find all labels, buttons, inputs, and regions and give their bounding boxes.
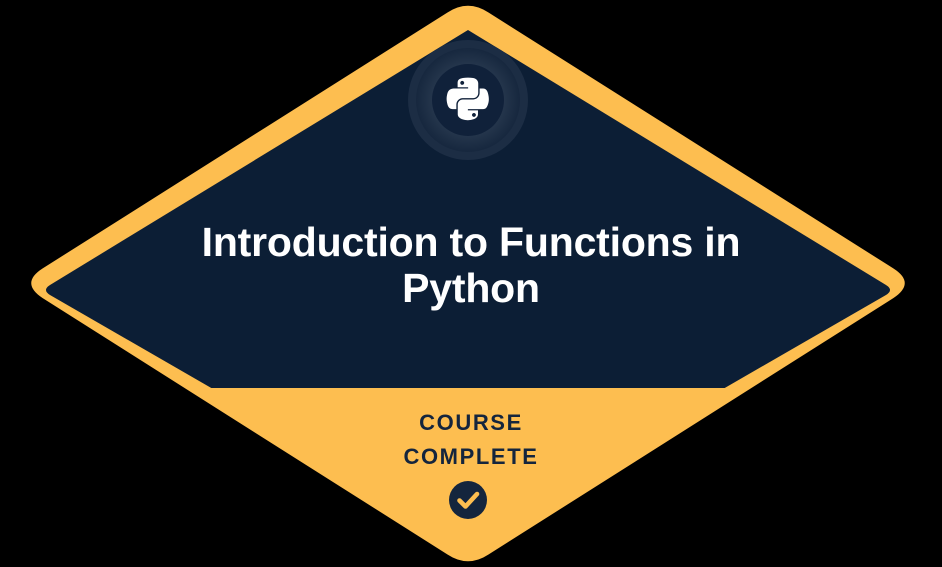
- badge-artwork: [0, 0, 942, 567]
- badge-inner-panel: [0, 0, 942, 388]
- course-completion-badge: Introduction to Functions in Python COUR…: [0, 0, 942, 567]
- check-circle-icon: [449, 481, 487, 519]
